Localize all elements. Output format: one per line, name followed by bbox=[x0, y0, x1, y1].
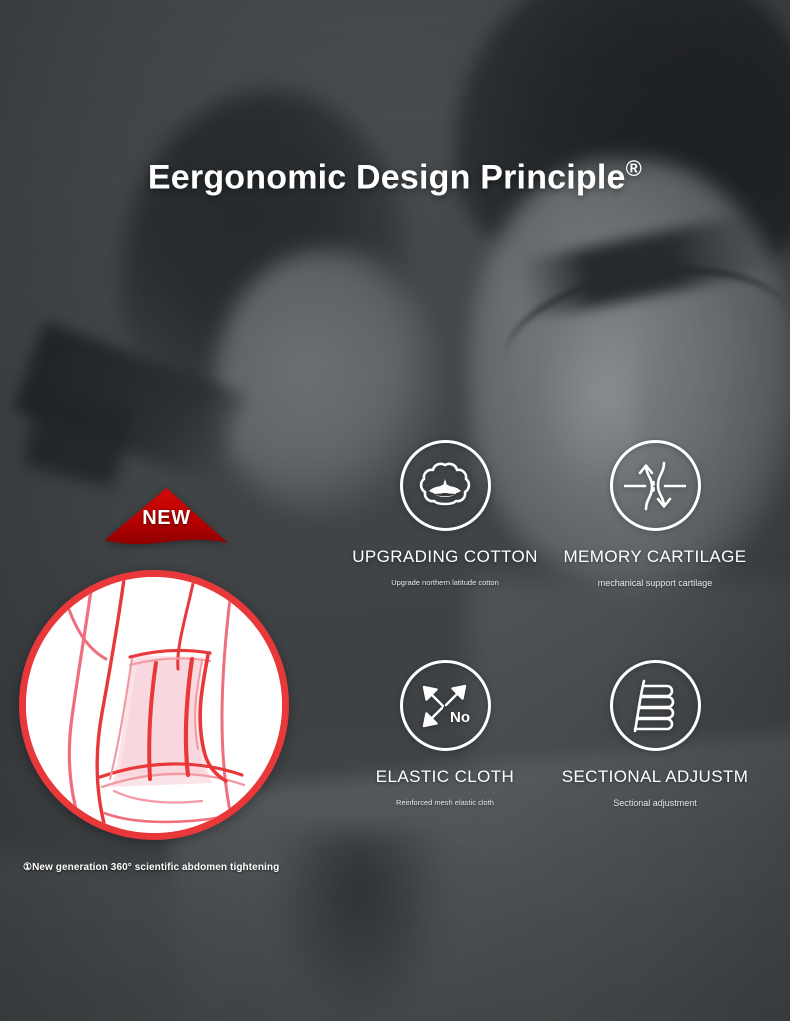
feature-title: MEMORY CARTILAGE bbox=[545, 547, 765, 567]
promo-banner: Eergonomic Design Principle® NEW bbox=[0, 0, 790, 1021]
feature-subtitle: Reinforced mesh elastic cloth bbox=[335, 798, 555, 807]
feature-memory-cartilage: MEMORY CARTILAGE mechanical support cart… bbox=[545, 440, 765, 588]
new-badge: NEW bbox=[104, 487, 229, 549]
sectional-bands-icon bbox=[610, 660, 701, 751]
product-illustration-circle bbox=[19, 570, 289, 840]
memory-cartilage-arrows-icon bbox=[610, 440, 701, 531]
waist-trainer-illustration bbox=[26, 577, 282, 833]
feature-title: ELASTIC CLOTH bbox=[335, 767, 555, 787]
cotton-boll-icon bbox=[400, 440, 491, 531]
feature-subtitle: mechanical support cartilage bbox=[545, 578, 765, 588]
feature-upgrading-cotton: UPGRADING COTTON Upgrade northern latitu… bbox=[335, 440, 555, 587]
product-caption: ①New generation 360° scientific abdomen … bbox=[23, 862, 279, 873]
feature-sectional-adjustment: SECTIONAL ADJUSTM Sectional adjustment bbox=[545, 660, 765, 808]
feature-subtitle: Upgrade northern latitude cotton bbox=[335, 578, 555, 587]
no-stretch-arrows-icon: No bbox=[400, 660, 491, 751]
feature-subtitle: Sectional adjustment bbox=[545, 798, 765, 808]
page-title: Eergonomic Design Principle® bbox=[0, 156, 790, 197]
feature-title: SECTIONAL ADJUSTM bbox=[545, 767, 765, 787]
feature-grid: UPGRADING COTTON Upgrade northern latitu… bbox=[340, 440, 780, 850]
registered-trademark-icon: ® bbox=[626, 156, 642, 181]
page-title-text: Eergonomic Design Principle bbox=[148, 158, 626, 196]
new-badge-label: NEW bbox=[104, 507, 229, 530]
feature-title: UPGRADING COTTON bbox=[335, 547, 555, 567]
feature-elastic-cloth: No ELASTIC CLOTH Reinforced mesh elastic… bbox=[335, 660, 555, 807]
svg-text:No: No bbox=[450, 709, 470, 726]
